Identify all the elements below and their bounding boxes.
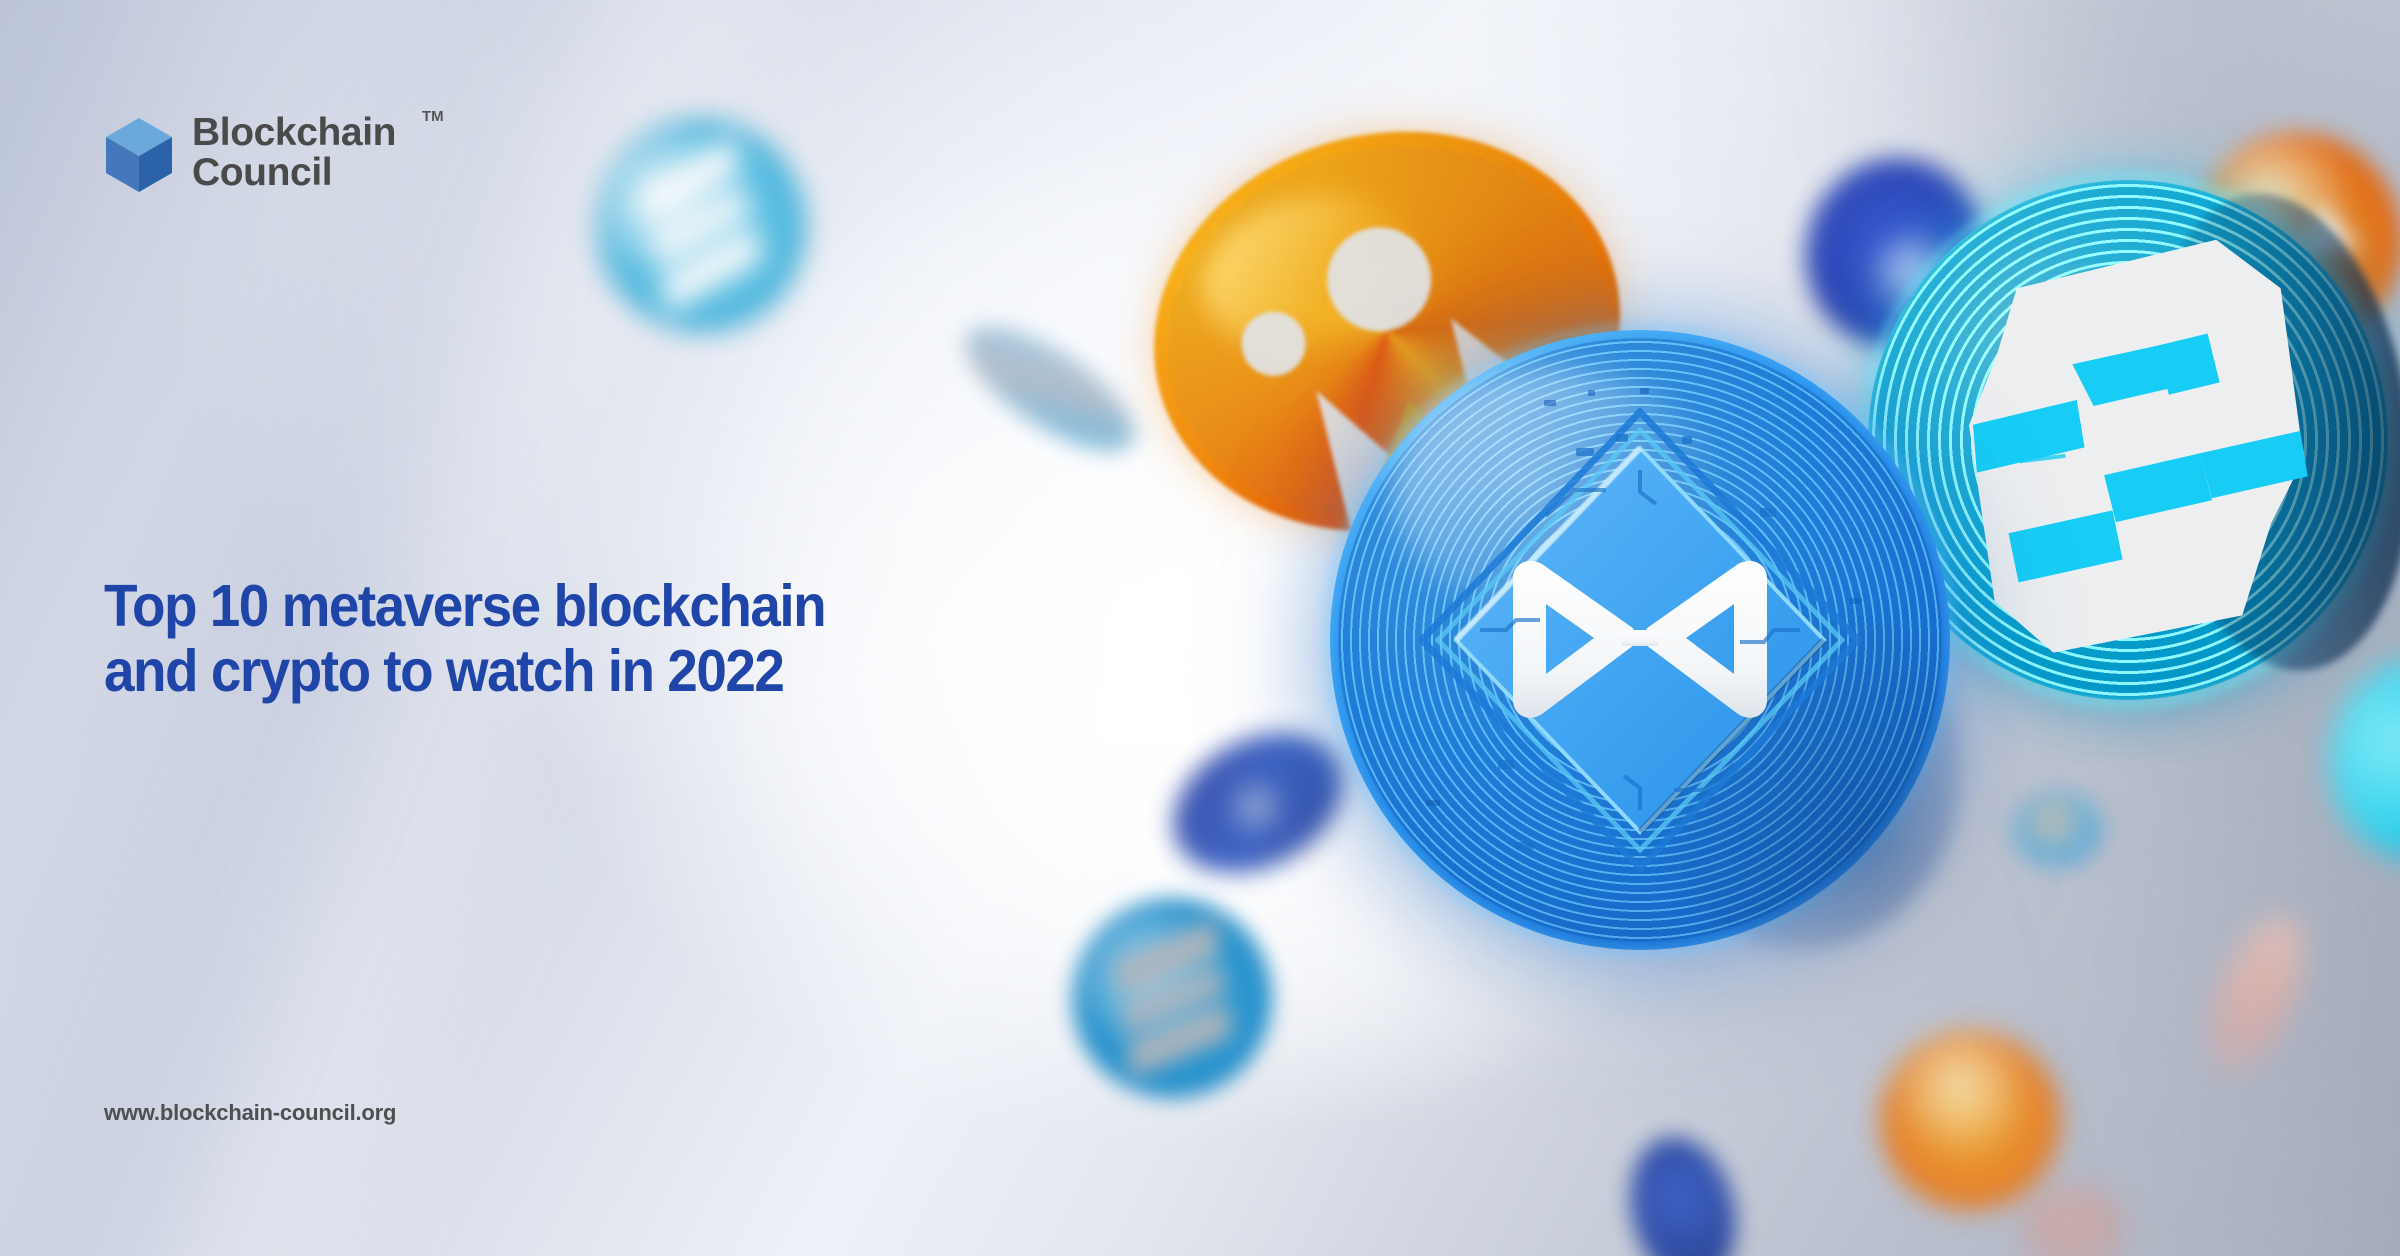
blurred-coin-icon xyxy=(2012,790,2102,868)
circuit-speck xyxy=(1850,598,1862,604)
brand-name-line2: Council xyxy=(192,153,396,193)
headline-line-1: Top 10 metaverse blockchain xyxy=(104,574,1146,639)
page-title: Top 10 metaverse blockchain and crypto t… xyxy=(104,574,1146,704)
blurred-coin-edge-icon xyxy=(948,305,1153,474)
blurred-coin-icon xyxy=(2330,660,2400,860)
blurred-coin-icon xyxy=(1048,874,1295,1121)
circuit-speck xyxy=(1640,388,1649,394)
brand-wordmark: Blockchain Council TM xyxy=(192,112,396,193)
blurred-coin-icon xyxy=(2190,903,2321,1089)
trademark-mark: TM xyxy=(422,108,444,125)
isometric-cube-icon xyxy=(104,116,174,194)
circuit-speck xyxy=(1426,800,1440,806)
brand-name-line1: Blockchain xyxy=(192,113,396,153)
banner-canvas: Blockchain Council TM Top 10 metaverse b… xyxy=(0,0,2400,1256)
brand-logo[interactable]: Blockchain Council TM xyxy=(104,112,396,194)
headline-line-2: and crypto to watch in 2022 xyxy=(104,639,1146,704)
blurred-coin-icon xyxy=(561,85,840,367)
website-url[interactable]: www.blockchain-council.org xyxy=(104,1100,396,1126)
circuit-speck xyxy=(1544,400,1556,406)
blurred-coin-icon xyxy=(2018,1184,2128,1256)
blurred-coin-icon xyxy=(1615,1126,1750,1256)
axie-infinity-coin-icon xyxy=(1330,330,1950,950)
circuit-speck xyxy=(1588,390,1595,396)
